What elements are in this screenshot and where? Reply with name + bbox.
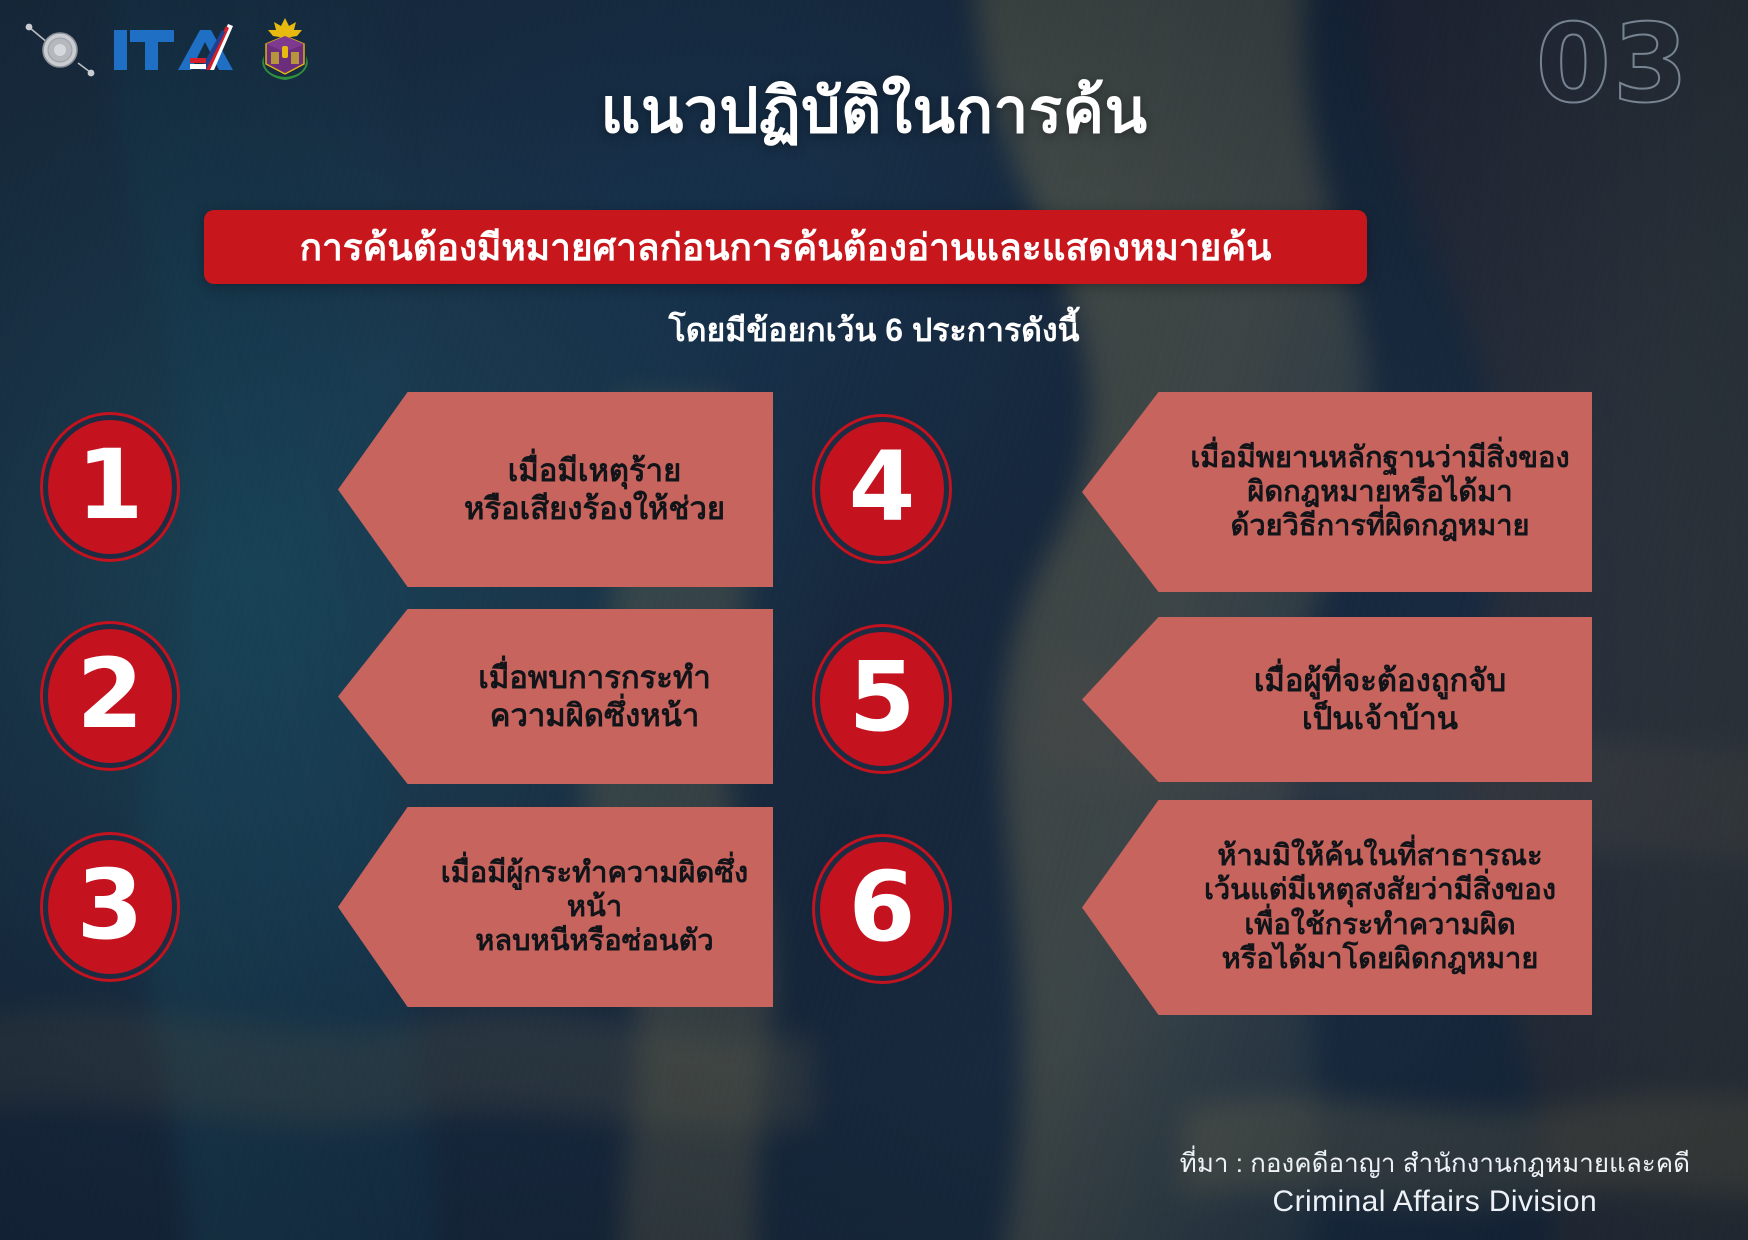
exception-line: เว้นแต่มีเหตุสงสัยว่ามีสิ่งของ bbox=[1178, 873, 1582, 907]
highlight-banner: การค้นต้องมีหมายศาลก่อนการค้นต้องอ่านและ… bbox=[204, 210, 1367, 284]
exception-text-2: เมื่อพบการกระทำ ความผิดซึ่งหน้า bbox=[416, 659, 773, 735]
exception-column-right: เมื่อมีพยานหลักฐานว่ามีสิ่งของ ผิดกฎหมาย… bbox=[820, 392, 1610, 1032]
exception-badge-1: 1 bbox=[48, 420, 172, 554]
exception-line: หรือเสียงร้องให้ช่วย bbox=[426, 490, 763, 528]
exception-item-2: เมื่อพบการกระทำ ความผิดซึ่งหน้า 2 bbox=[38, 609, 828, 784]
exception-line: เพื่อใช้กระทำความผิด bbox=[1178, 908, 1582, 942]
source-english: Criminal Affairs Division bbox=[1180, 1182, 1690, 1223]
exception-text-4: เมื่อมีพยานหลักฐานว่ามีสิ่งของ ผิดกฎหมาย… bbox=[1168, 441, 1592, 544]
exception-badge-4: 4 bbox=[820, 422, 944, 556]
exception-badge-5: 5 bbox=[820, 632, 944, 766]
exception-chevron-6: ห้ามมิให้ค้นในที่สาธารณะ เว้นแต่มีเหตุสง… bbox=[1082, 800, 1592, 1015]
exception-badge-3: 3 bbox=[48, 840, 172, 974]
exception-item-5: เมื่อผู้ที่จะต้องถูกจับ เป็นเจ้าบ้าน 5 bbox=[820, 617, 1610, 782]
exception-chevron-2: เมื่อพบการกระทำ ความผิดซึ่งหน้า bbox=[338, 609, 773, 784]
exception-line: หลบหนีหรือซ่อนตัว bbox=[426, 924, 763, 958]
exception-badge-2: 2 bbox=[48, 629, 172, 763]
exception-line: เมื่อมีผู้กระทำความผิดซึ่งหน้า bbox=[426, 856, 763, 924]
exception-line: เมื่อมีเหตุร้าย bbox=[426, 452, 763, 490]
exception-number-5: 5 bbox=[849, 649, 916, 745]
exception-chevron-4: เมื่อมีพยานหลักฐานว่ามีสิ่งของ ผิดกฎหมาย… bbox=[1082, 392, 1592, 592]
exception-chevron-1: เมื่อมีเหตุร้าย หรือเสียงร้องให้ช่วย bbox=[338, 392, 773, 587]
exception-number-1: 1 bbox=[77, 437, 144, 533]
source-thai: ที่มา : กองคดีอาญา สำนักงานกฎหมายและคดี bbox=[1180, 1146, 1690, 1181]
exception-item-3: เมื่อมีผู้กระทำความผิดซึ่งหน้า หลบหนีหรื… bbox=[38, 807, 828, 1007]
exception-line: เมื่อผู้ที่จะต้องถูกจับ bbox=[1178, 662, 1582, 700]
exception-line: เป็นเจ้าบ้าน bbox=[1178, 700, 1582, 738]
royal-mace-emblem-icon bbox=[22, 19, 98, 79]
exception-number-6: 6 bbox=[849, 859, 916, 955]
exception-list: เมื่อมีเหตุร้าย หรือเสียงร้องให้ช่วย 1 เ… bbox=[0, 392, 1748, 1032]
exception-number-2: 2 bbox=[77, 646, 144, 742]
exception-line: ห้ามมิให้ค้นในที่สาธารณะ bbox=[1178, 839, 1582, 873]
exception-line: หรือได้มาโดยผิดกฎหมาย bbox=[1178, 942, 1582, 976]
highlight-banner-text: การค้นต้องมีหมายศาลก่อนการค้นต้องอ่านและ… bbox=[300, 218, 1272, 277]
exception-text-5: เมื่อผู้ที่จะต้องถูกจับ เป็นเจ้าบ้าน bbox=[1168, 662, 1592, 738]
exception-chevron-5: เมื่อผู้ที่จะต้องถูกจับ เป็นเจ้าบ้าน bbox=[1082, 617, 1592, 782]
exception-text-3: เมื่อมีผู้กระทำความผิดซึ่งหน้า หลบหนีหรื… bbox=[416, 856, 773, 959]
exception-text-6: ห้ามมิให้ค้นในที่สาธารณะ เว้นแต่มีเหตุสง… bbox=[1168, 839, 1592, 976]
exception-text-1: เมื่อมีเหตุร้าย หรือเสียงร้องให้ช่วย bbox=[416, 452, 773, 528]
exception-chevron-3: เมื่อมีผู้กระทำความผิดซึ่งหน้า หลบหนีหรื… bbox=[338, 807, 773, 1007]
logo-bar bbox=[22, 16, 314, 82]
exception-number-4: 4 bbox=[849, 439, 916, 535]
exception-line: ด้วยวิธีการที่ผิดกฎหมาย bbox=[1178, 509, 1582, 543]
exception-line: ผิดกฎหมายหรือได้มา bbox=[1178, 475, 1582, 509]
ita-logo-icon bbox=[112, 18, 242, 80]
exception-line: ความผิดซึ่งหน้า bbox=[426, 697, 763, 735]
exception-badge-6: 6 bbox=[820, 842, 944, 976]
exception-item-1: เมื่อมีเหตุร้าย หรือเสียงร้องให้ช่วย 1 bbox=[38, 392, 828, 587]
exception-line: เมื่อพบการกระทำ bbox=[426, 659, 763, 697]
exception-item-4: เมื่อมีพยานหลักฐานว่ามีสิ่งของ ผิดกฎหมาย… bbox=[820, 392, 1610, 592]
subtitle: โดยมีข้อยกเว้น 6 ประการดังนี้ bbox=[0, 305, 1748, 356]
infographic-poster: 03 แนวปฏิบัติในการค้น การค้นต้องมีหมายศา… bbox=[0, 0, 1748, 1240]
exception-column-left: เมื่อมีเหตุร้าย หรือเสียงร้องให้ช่วย 1 เ… bbox=[38, 392, 828, 1032]
exception-number-3: 3 bbox=[77, 857, 144, 953]
ministry-seal-icon bbox=[256, 16, 314, 82]
source-attribution: ที่มา : กองคดีอาญา สำนักงานกฎหมายและคดี … bbox=[1180, 1146, 1690, 1222]
exception-item-6: ห้ามมิให้ค้นในที่สาธารณะ เว้นแต่มีเหตุสง… bbox=[820, 800, 1610, 1015]
exception-line: เมื่อมีพยานหลักฐานว่ามีสิ่งของ bbox=[1178, 441, 1582, 475]
